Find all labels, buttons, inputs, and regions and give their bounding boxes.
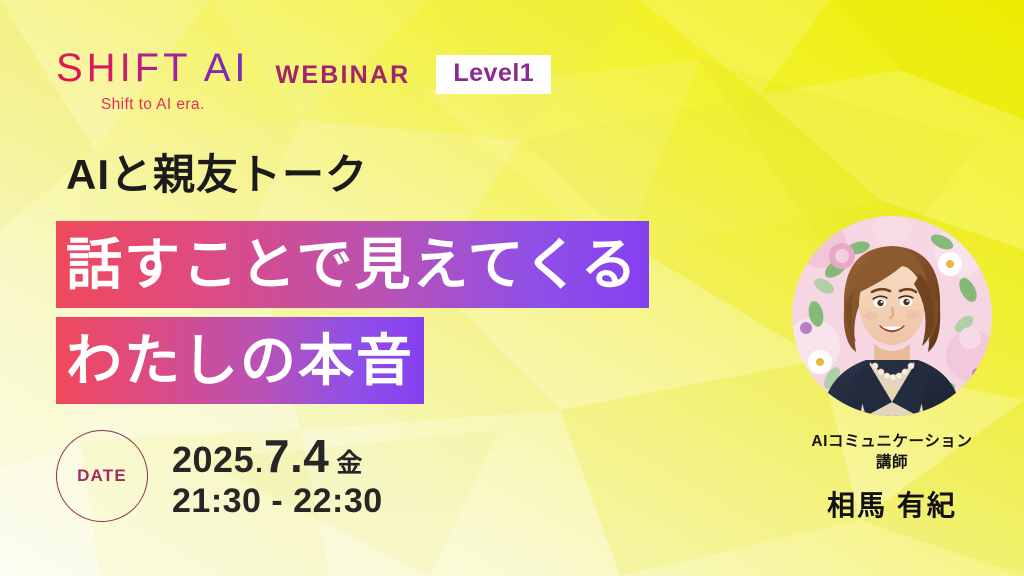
- date-day-of-week: 金: [329, 450, 362, 477]
- headline-line-2: わたしの本音: [56, 317, 424, 404]
- headline-line-1: 話すことで見えてくる: [56, 221, 649, 308]
- logo-wordmark: SHIFT AI: [56, 48, 250, 88]
- date-block: DATE 2025 . 7.4 金 21:30 - 22:30: [56, 430, 383, 522]
- date-year: 2025: [172, 441, 254, 479]
- speaker-name: 相馬 有紀: [827, 484, 957, 524]
- date-separator: .: [254, 448, 264, 477]
- speaker-role-line-2: 講師: [811, 453, 972, 474]
- level-badge: Level1: [436, 55, 551, 94]
- date-line: 2025 . 7.4 金: [172, 432, 383, 480]
- date-month-day: 7.4: [264, 432, 329, 480]
- speaker-role-line-1: AIコミュニケーション: [811, 433, 972, 450]
- logo-tagline: Shift to AI era.: [101, 97, 205, 113]
- shift-ai-logo: SHIFT AI Shift to AI era.: [56, 48, 250, 113]
- date-time-range: 21:30 - 22:30: [172, 483, 383, 520]
- kicker-text: AIと親友トーク: [66, 154, 368, 196]
- webinar-label: WEBINAR: [276, 61, 411, 90]
- speaker-block: AIコミュニケーション 講師 相馬 有紀: [760, 216, 1024, 524]
- portrait-illustration: [792, 216, 992, 416]
- speaker-portrait: [792, 216, 992, 416]
- banner-header: SHIFT AI Shift to AI era. WEBINAR Level1: [56, 48, 551, 113]
- date-badge-circle: DATE: [56, 430, 148, 522]
- speaker-role: AIコミュニケーション 講師: [811, 432, 972, 474]
- date-badge-label: DATE: [77, 466, 127, 486]
- webinar-banner: SHIFT AI Shift to AI era. WEBINAR Level1…: [0, 0, 1024, 576]
- date-text-group: 2025 . 7.4 金 21:30 - 22:30: [172, 432, 383, 521]
